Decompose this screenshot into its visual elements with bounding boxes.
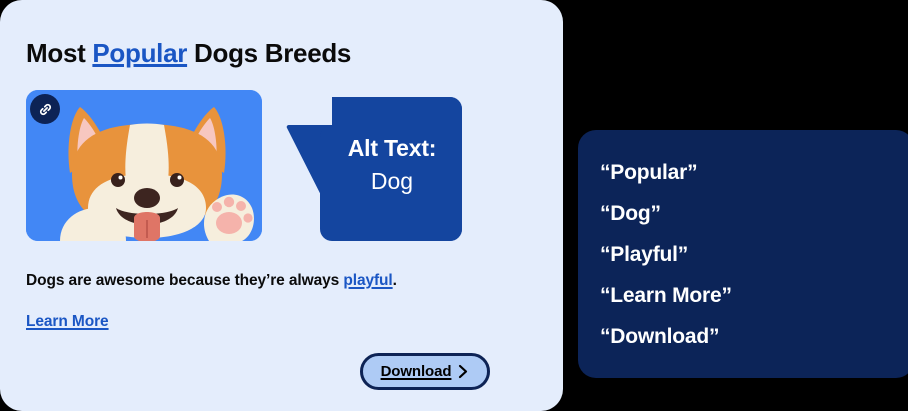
corgi-illustration (26, 90, 262, 241)
body-text-before: Dogs are awesome because they’re always (26, 272, 343, 289)
alt-text-bubble: Alt Text: Dog (286, 97, 462, 241)
list-item: “Dog” (600, 193, 732, 234)
link-icon (37, 101, 54, 118)
body-text-after: . (393, 272, 397, 289)
page-title-text-before: Most (26, 38, 92, 68)
page-title: Most Popular Dogs Breeds (26, 38, 351, 69)
download-button-label: Download (381, 363, 452, 380)
dog-image[interactable] (26, 90, 262, 241)
link-badge[interactable] (30, 94, 60, 124)
list-item: “Playful” (600, 234, 732, 275)
page-title-text-after: Dogs Breeds (187, 38, 351, 68)
content-preview-card: Most Popular Dogs Breeds (0, 0, 563, 411)
alt-text-content: Alt Text: Dog (322, 133, 462, 199)
alt-text-label: Alt Text: (322, 133, 462, 163)
list-item: “Download” (600, 316, 732, 357)
list-item: “Popular” (600, 152, 732, 193)
playful-link[interactable]: playful (343, 272, 392, 289)
chevron-right-icon (457, 364, 469, 379)
detected-elements-panel: “Popular” “Dog” “Playful” “Learn More” “… (578, 130, 908, 378)
detected-elements-list: “Popular” “Dog” “Playful” “Learn More” “… (600, 152, 732, 357)
learn-more-link[interactable]: Learn More (26, 313, 109, 331)
list-item: “Learn More” (600, 275, 732, 316)
alt-text-value: Dog (322, 163, 462, 199)
download-button[interactable]: Download (360, 353, 490, 390)
popular-link[interactable]: Popular (92, 38, 187, 68)
body-paragraph: Dogs are awesome because they’re always … (26, 272, 397, 290)
